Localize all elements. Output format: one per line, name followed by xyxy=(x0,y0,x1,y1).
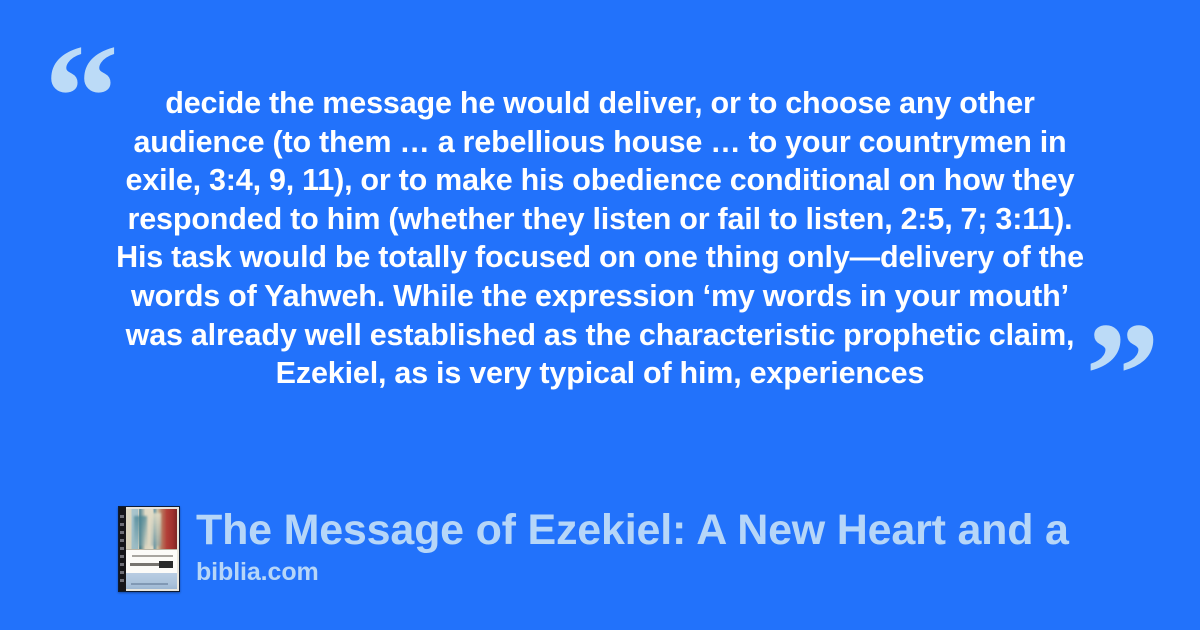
book-cover-title-highlight xyxy=(159,561,173,568)
book-cover-spine xyxy=(119,507,126,591)
closing-quote-icon: ” xyxy=(1085,300,1158,450)
work-title[interactable]: The Message of Ezekiel: A New Heart and … xyxy=(196,506,1069,554)
book-cover-title-band xyxy=(126,549,177,575)
source-site[interactable]: biblia.com xyxy=(196,558,1069,586)
quote-text: decide the message he would deliver, or … xyxy=(108,84,1092,393)
book-cover-artwork xyxy=(126,509,177,549)
book-cover-author-line xyxy=(132,555,173,557)
book-cover-icon[interactable] xyxy=(118,506,180,592)
quote-share-card: “ decide the message he would deliver, o… xyxy=(0,0,1200,630)
book-cover-lower-panel xyxy=(126,573,177,589)
attribution-text: The Message of Ezekiel: A New Heart and … xyxy=(196,506,1069,586)
attribution[interactable]: The Message of Ezekiel: A New Heart and … xyxy=(118,506,1069,592)
opening-quote-icon: “ xyxy=(44,22,117,172)
book-cover-title-line xyxy=(130,563,161,566)
